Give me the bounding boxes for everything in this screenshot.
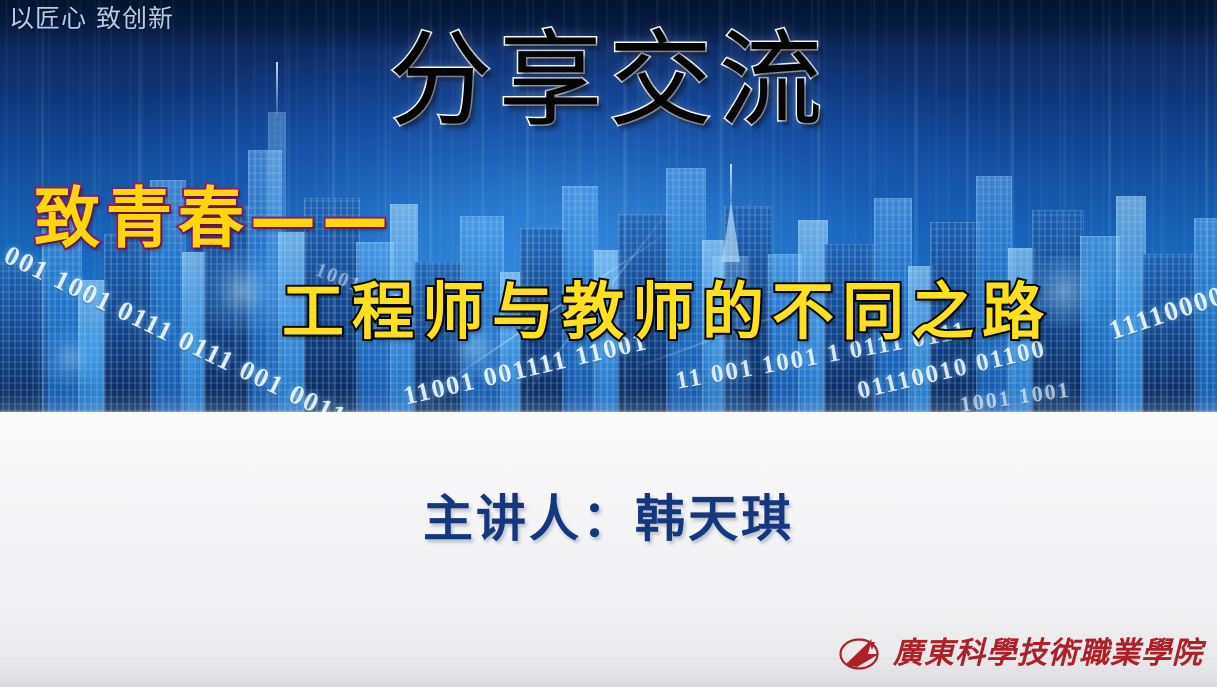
hero-bottom-fade bbox=[0, 390, 1217, 412]
presentation-slide: 001 1001 0111 0111 001 00111 001 11001 0… bbox=[0, 0, 1217, 687]
gdit-emblem-icon bbox=[839, 634, 885, 674]
slide-subtitle-line-2: 工程师与教师的不同之路 bbox=[282, 281, 1052, 343]
slide-subtitle-line-1: 致青春—— bbox=[34, 186, 394, 252]
presenter-name: 主讲人：韩天琪 bbox=[0, 494, 1217, 544]
slide-main-title: 分享交流 bbox=[0, 24, 1217, 136]
institution-name: 廣東科學技術職業學院 bbox=[893, 639, 1203, 669]
institution-logo: 廣東科學技術職業學院 bbox=[839, 629, 1203, 679]
